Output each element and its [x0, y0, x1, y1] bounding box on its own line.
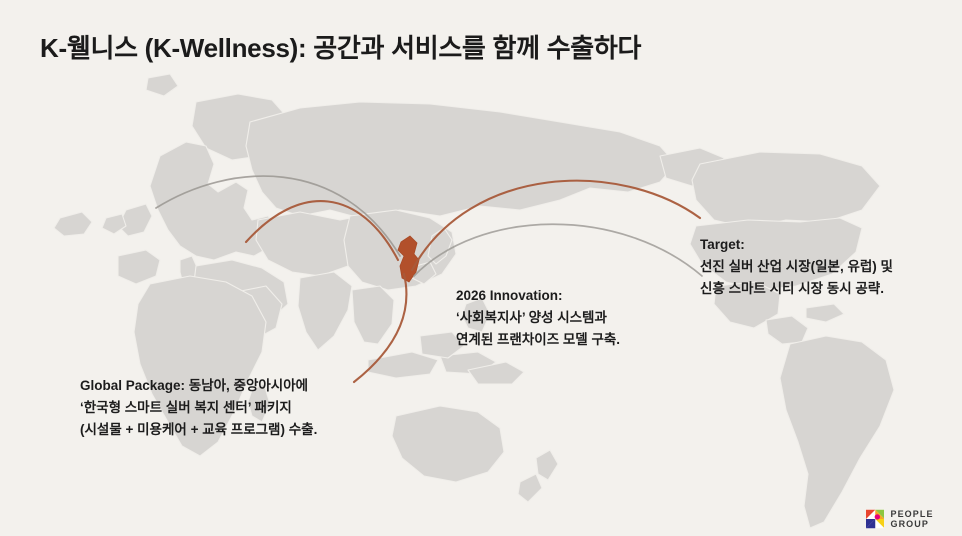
annotation-target-line3: 신흥 스마트 시티 시장 동시 공략. — [700, 278, 893, 300]
annotation-innovation: 2026 Innovation: ‘사회복지사’ 양성 시스템과 연계된 프랜차… — [456, 285, 620, 351]
annotation-global-package-line3: (시설물 + 미용케어 + 교육 프로그램) 수출. — [80, 419, 317, 441]
annotation-target-line1: Target: — [700, 234, 893, 256]
brand-logo: PEOPLE GROUP — [866, 508, 962, 530]
flow-korea-to-usa-south — [414, 224, 702, 276]
annotation-global-package-line1: Global Package: 동남아, 중앙아시아에 — [80, 375, 317, 397]
annotation-innovation-line3: 연계된 프랜차이즈 모델 구축. — [456, 329, 620, 351]
people-group-logo-icon — [866, 508, 884, 530]
brand-logo-text: PEOPLE GROUP — [890, 509, 962, 529]
flow-korea-to-central-asia — [246, 201, 398, 260]
annotation-innovation-line2: ‘사회복지사’ 양성 시스템과 — [456, 307, 620, 329]
slide-canvas: K-웰니스 (K-Wellness): 공간과 서비스를 함께 수출하다 — [0, 0, 962, 536]
annotation-innovation-line1: 2026 Innovation: — [456, 285, 620, 307]
annotation-global-package-line2: ‘한국형 스마트 실버 복지 센터’ 패키지 — [80, 397, 317, 419]
flow-korea-to-southeast-asia — [354, 274, 406, 382]
flow-korea-to-north-america — [412, 181, 700, 270]
annotation-global-package: Global Package: 동남아, 중앙아시아에 ‘한국형 스마트 실버 … — [80, 375, 317, 441]
annotation-target: Target: 선진 실버 산업 시장(일본, 유럽) 및 신흥 스마트 시티 … — [700, 234, 893, 300]
annotation-target-line2: 선진 실버 산업 시장(일본, 유럽) 및 — [700, 256, 893, 278]
